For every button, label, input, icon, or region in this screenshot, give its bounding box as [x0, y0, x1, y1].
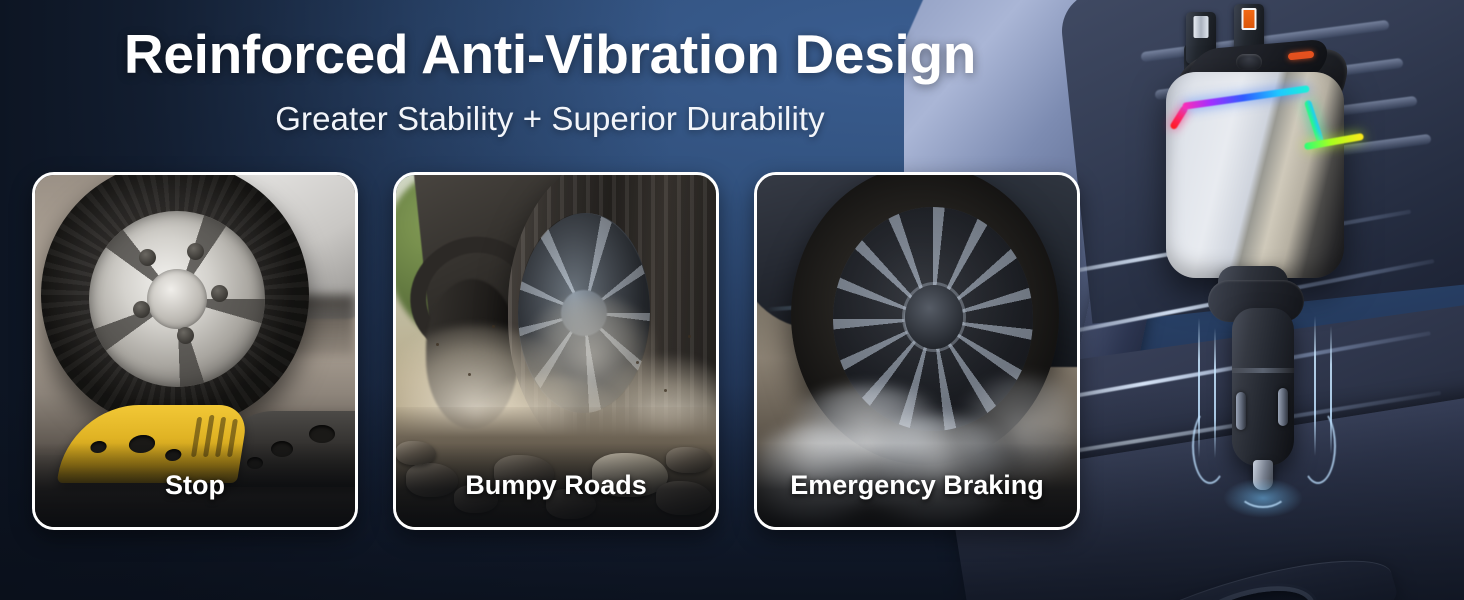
speed-bump-hole: [309, 425, 335, 443]
anti-vibration-banner: Reinforced Anti-Vibration Design Greater…: [0, 0, 1464, 600]
debris-speck: [636, 361, 639, 364]
vibration-arc: [1238, 474, 1288, 508]
lug-nut: [139, 249, 156, 266]
plug-ring: [1232, 368, 1294, 373]
lug-nut: [211, 285, 228, 302]
debris-speck: [468, 373, 471, 376]
debris-speck: [436, 343, 439, 346]
dust-cloud: [516, 295, 666, 415]
vibration-arc: [1300, 408, 1336, 484]
lug-nut: [177, 327, 194, 344]
page-subtitle: Greater Stability + Superior Durability: [0, 100, 1100, 138]
car-charger-product: [1148, 8, 1378, 568]
lug-nut: [187, 243, 204, 260]
card-label: Stop: [35, 443, 355, 527]
heading-block: Reinforced Anti-Vibration Design Greater…: [0, 0, 1100, 138]
debris-speck: [664, 389, 667, 392]
plug-spring-contact: [1278, 388, 1288, 426]
debris-speck: [492, 325, 495, 328]
vibration-arc: [1192, 408, 1228, 484]
lug-nut: [133, 301, 150, 318]
scenario-card-emergency-braking[interactable]: Emergency Braking: [754, 172, 1080, 530]
scenario-card-stop[interactable]: Stop: [32, 172, 358, 530]
usb-c-blade: [1194, 16, 1209, 38]
page-title: Reinforced Anti-Vibration Design: [0, 22, 1100, 86]
charger-button: [1236, 54, 1262, 70]
scenario-card-list: Stop: [32, 172, 1080, 530]
plug-barrel: [1232, 308, 1294, 466]
debris-speck: [688, 335, 691, 338]
charger-body: [1166, 72, 1344, 278]
wheel-hub: [905, 285, 963, 349]
card-label: Emergency Braking: [757, 443, 1077, 527]
lightning-blade: [1242, 8, 1257, 30]
plug-spring-contact: [1236, 392, 1246, 430]
wheel-hub: [147, 269, 207, 329]
card-label: Bumpy Roads: [396, 443, 716, 527]
scenario-card-bumpy-roads[interactable]: Bumpy Roads: [393, 172, 719, 530]
